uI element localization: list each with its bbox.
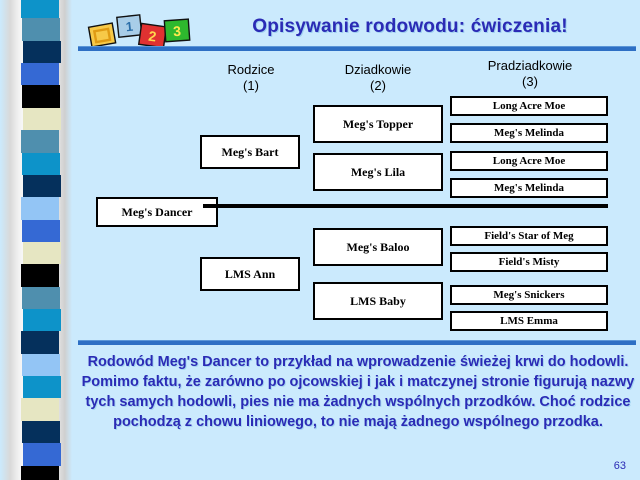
sidebar-color-band xyxy=(21,398,59,420)
sidebar-color-band xyxy=(23,376,61,398)
pedigree-box-grandparent-1: Meg's Topper xyxy=(313,105,443,143)
svg-text:3: 3 xyxy=(173,23,182,40)
pedigree-box-great-grandparent-6: Field's Misty xyxy=(450,252,608,272)
pedigree-box-great-grandparent-3: Long Acre Moe xyxy=(450,151,608,171)
pedigree-box-sire: Meg's Bart xyxy=(200,135,300,169)
svg-text:1: 1 xyxy=(125,19,134,35)
sidebar-color-band xyxy=(21,331,59,353)
pedigree-box-subject: Meg's Dancer xyxy=(96,197,218,227)
pedigree-box-dam: LMS Ann xyxy=(200,257,300,291)
color-band-ribbon xyxy=(22,0,60,480)
pedigree-box-great-grandparent-7: Meg's Snickers xyxy=(450,285,608,305)
sidebar-color-band xyxy=(23,41,61,63)
pedigree-box-great-grandparent-2: Meg's Melinda xyxy=(450,123,608,143)
title-divider xyxy=(78,46,636,51)
sidebar-color-band xyxy=(22,287,60,309)
page-title: Opisywanie rodowodu: ćwiczenia! xyxy=(200,16,620,38)
pedigree-box-great-grandparent-4: Meg's Melinda xyxy=(450,178,608,198)
pedigree-box-great-grandparent-1: Long Acre Moe xyxy=(450,96,608,116)
column-header-grandparents-label: Dziadkowie xyxy=(312,62,444,78)
pedigree-box-grandparent-4: LMS Baby xyxy=(313,282,443,320)
column-header-grandparents-number: (2) xyxy=(312,78,444,94)
sidebar-color-band xyxy=(22,421,60,443)
caption-divider xyxy=(78,340,636,345)
sidebar-color-band xyxy=(23,309,61,331)
column-header-parents-number: (1) xyxy=(196,78,306,94)
pedigree-box-great-grandparent-8: LMS Emma xyxy=(450,311,608,331)
sidebar-color-band xyxy=(21,264,59,286)
sidebar-color-band xyxy=(21,63,59,85)
sidebar-color-band xyxy=(21,466,59,480)
sidebar-color-band xyxy=(22,85,60,107)
sidebar-color-band xyxy=(21,130,59,152)
column-header-great-grandparents: Pradziadkowie (3) xyxy=(448,58,612,90)
pedigree-mid-divider xyxy=(203,204,608,208)
page-number: 63 xyxy=(614,460,626,472)
sidebar-color-band xyxy=(22,354,60,376)
pedigree-box-grandparent-3: Meg's Baloo xyxy=(313,228,443,266)
slide-canvas: 1 2 3 Opisywanie rodowodu: ćwiczenia! Ro… xyxy=(0,0,640,480)
sidebar-color-band xyxy=(23,175,61,197)
decorative-sidebar xyxy=(0,0,72,480)
sidebar-color-band xyxy=(22,153,60,175)
column-header-parents-label: Rodzice xyxy=(196,62,306,78)
sidebar-color-band xyxy=(23,108,61,130)
sidebar-color-band xyxy=(22,220,60,242)
pedigree-box-great-grandparent-5: Field's Star of Meg xyxy=(450,226,608,246)
sidebar-color-band xyxy=(21,0,59,18)
pedigree-box-grandparent-2: Meg's Lila xyxy=(313,153,443,191)
column-header-grandparents: Dziadkowie (2) xyxy=(312,62,444,94)
toy-blocks-icon: 1 2 3 xyxy=(86,12,194,50)
sidebar-color-band xyxy=(23,443,61,465)
column-header-great-grandparents-number: (3) xyxy=(448,74,612,90)
column-header-great-grandparents-label: Pradziadkowie xyxy=(448,58,612,74)
sidebar-color-band xyxy=(22,18,60,40)
caption-text: Rodowód Meg's Dancer to przykład na wpro… xyxy=(80,352,636,432)
sidebar-color-band xyxy=(21,197,59,219)
column-header-parents: Rodzice (1) xyxy=(196,62,306,94)
sidebar-color-band xyxy=(23,242,61,264)
